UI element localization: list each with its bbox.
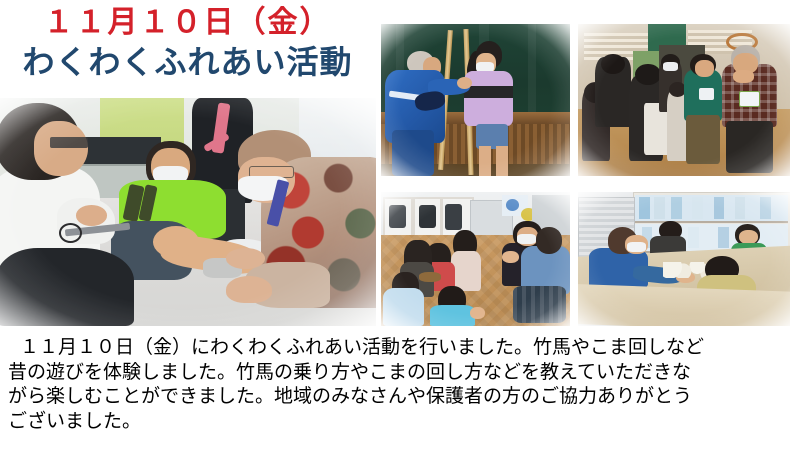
title-event-line: わくわくふれあい活動: [0, 42, 375, 82]
photo-classroom-circle: [381, 192, 570, 326]
article-body: １１月１０日（金）にわくわくふれあい活動を行いました。竹馬やこま回しなど 昔の遊…: [8, 336, 792, 434]
photo-group-demo: [578, 24, 790, 176]
body-line-1: １１月１０日（金）にわくわくふれあい活動を行いました。竹馬やこま回しなど: [8, 336, 792, 361]
title-date-line: １１月１０日（金）: [0, 4, 375, 42]
photo-koma-floor: [0, 98, 376, 326]
photo-stilts-lesson: [381, 24, 570, 176]
body-line-2: 昔の遊びを体験しました。竹馬の乗り方やこまの回し方などを教えていただきな: [8, 361, 792, 386]
page-title: １１月１０日（金） わくわくふれあい活動: [0, 4, 375, 82]
page-root: １１月１０日（金） わくわくふれあい活動: [0, 0, 800, 452]
body-line-4: ございました。: [8, 410, 792, 435]
body-line-3: がら楽しむことができました。地域のみなさんや保護者の方のご協力ありがとう: [8, 385, 792, 410]
photo-library-game: [578, 192, 790, 326]
